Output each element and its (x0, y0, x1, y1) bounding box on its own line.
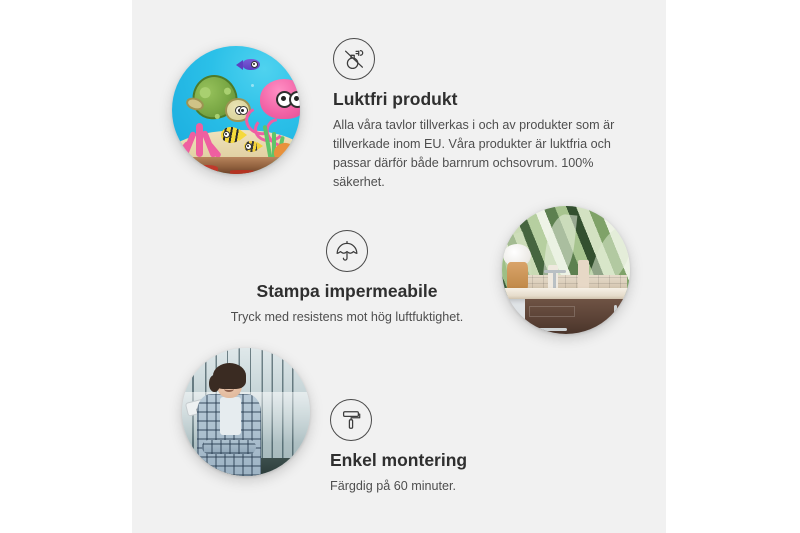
paint-roller-icon (330, 399, 372, 441)
woman-hair (213, 363, 246, 389)
feature-odourless: Luktfri produkt Alla våra tavlor tillver… (333, 38, 633, 191)
forest-scene (182, 348, 310, 476)
feature-body: Färgdig på 60 minuter. (330, 477, 590, 496)
octopus-head (260, 79, 300, 119)
no-perfume-spray-icon (333, 38, 375, 80)
screenshot-stage: Luktfri produkt Alla våra tavlor tillver… (0, 0, 800, 533)
photo-woman-paint-roller-forest[interactable] (182, 348, 310, 476)
feature-body: Alla våra tavlor tillverkas i och av pro… (333, 116, 633, 192)
feature-title: Stampa impermeabile (222, 281, 472, 303)
sea-floor (172, 157, 300, 174)
feature-waterproof: Stampa impermeabile Tryck med resistens … (222, 230, 472, 327)
countertop (502, 288, 630, 300)
woman-inner-shirt (220, 397, 240, 435)
photo-underwater-kids-mural[interactable] (172, 46, 300, 174)
woman-crossed-arms (202, 440, 256, 454)
photo-bathroom-tropical-wallpaper[interactable] (502, 206, 630, 334)
underwater-scene (172, 46, 300, 174)
feature-title: Luktfri produkt (333, 89, 633, 111)
faucet-icon (553, 270, 556, 289)
octopus-eye (289, 91, 300, 108)
cabinet-handle (624, 305, 627, 324)
bathroom-scene (502, 206, 630, 334)
vanity-cabinet (525, 299, 630, 334)
feature-easy-mounting: Enkel montering Färgdig på 60 minuter. (330, 399, 590, 496)
drawer-handle (536, 328, 567, 331)
umbrella-icon (326, 230, 368, 272)
feature-body: Tryck med resistens mot hög luftfuktighe… (222, 308, 472, 327)
cabinet-handle (614, 305, 617, 324)
feature-title: Enkel montering (330, 450, 590, 472)
sea-turtle-icon (190, 74, 249, 125)
